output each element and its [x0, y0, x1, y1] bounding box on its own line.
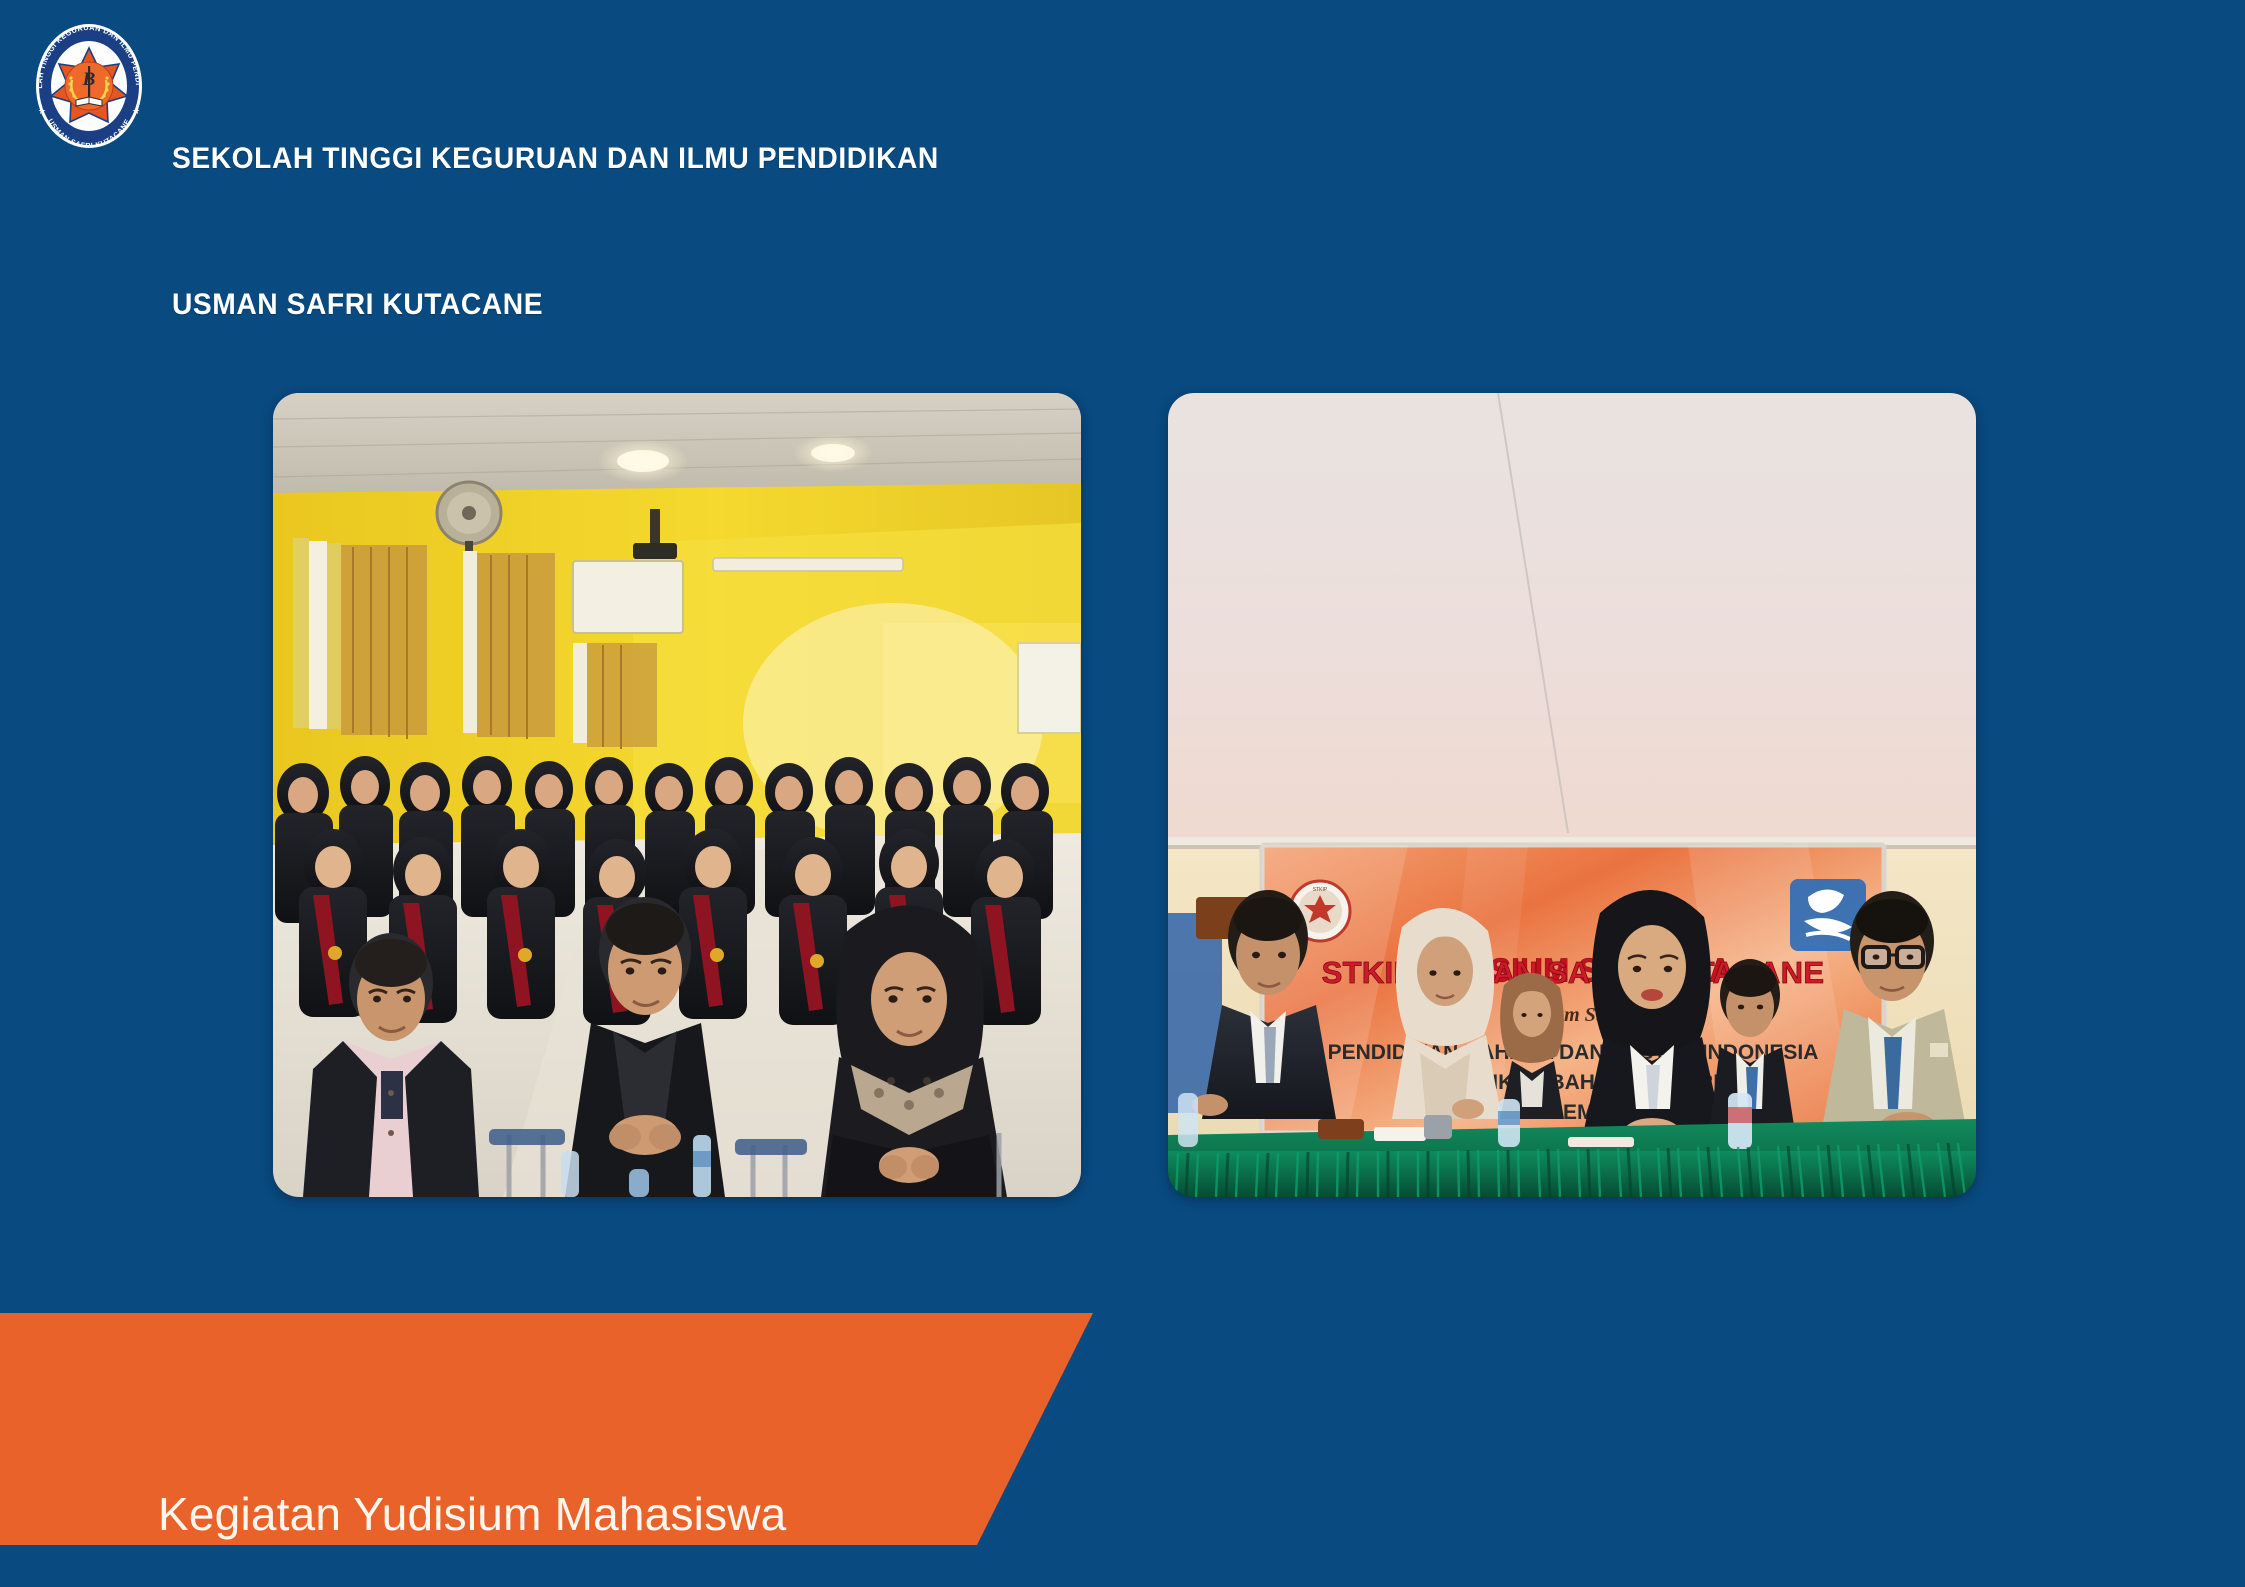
slide-header: SEKOLAH TINGGI KEGURUAN DAN ILMU PENDIDI…	[0, 0, 2245, 190]
caption-banner-text: Kegiatan Yudisium Mahasiswa 31 Juli 2025	[158, 1340, 786, 1587]
institution-name-line2: USMAN SAFRI KUTACANE	[172, 281, 939, 330]
caption-title: Kegiatan Yudisium Mahasiswa	[158, 1480, 786, 1550]
page-title: SEKOLAH TINGGI KEGURUAN DAN ILMU PENDIDI…	[172, 38, 988, 427]
institution-name-line1: SEKOLAH TINGGI KEGURUAN DAN ILMU PENDIDI…	[172, 135, 939, 184]
svg-text:STKIP: STKIP	[1313, 887, 1328, 893]
svg-text:B: B	[82, 69, 96, 90]
photo-audience-hall	[273, 393, 1081, 1197]
svg-text:★: ★	[132, 106, 140, 116]
svg-text:★: ★	[38, 106, 46, 116]
slide-canvas: SEKOLAH TINGGI KEGURUAN DAN ILMU PENDIDI…	[0, 0, 2245, 1587]
photo-panel-table: STKIP YUDISIUM SARJANA STKIP USMAN SAFRI…	[1168, 393, 1976, 1197]
institution-logo-icon: SEKOLAH TINGGI KEGURUAN DAN ILMU PENDIDI…	[26, 22, 152, 150]
